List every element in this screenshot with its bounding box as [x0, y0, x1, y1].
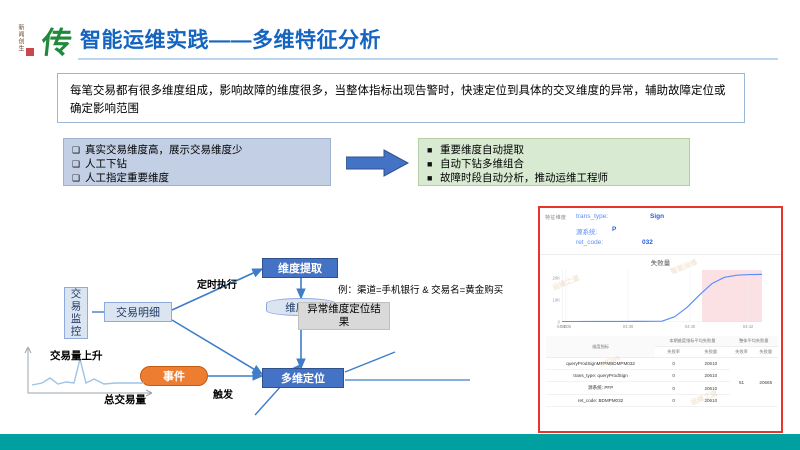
- square-filled-icon: ■: [427, 143, 440, 157]
- label-volume-rising: 交易量上升: [50, 348, 103, 363]
- title-divider: [78, 58, 778, 60]
- table-row: queryProdSignMFPMBDMPM032 0 20610 51 206…: [546, 358, 778, 370]
- cell-dimension: ret_code: BDMPM032: [546, 395, 655, 407]
- y-tick-label: 20K: [553, 276, 560, 281]
- square-filled-icon: ■: [427, 171, 440, 185]
- list-item: ❑ 人工下钻: [72, 157, 322, 171]
- table-body: queryProdSignMFPMBDMPM032 0 20610 51 206…: [546, 358, 778, 407]
- cell-count: 20610: [692, 382, 729, 395]
- list-item: ■ 重要维度自动提取: [427, 143, 681, 157]
- field-key: ret_code:: [576, 239, 603, 246]
- brand-logo: 新闻创生 传: [12, 16, 74, 60]
- col-dimension: 维度指标: [546, 336, 655, 358]
- description-box: 每笔交易都有很多维度组成，影响故障的维度很多，当整体指标出现告警时，快速定位到具…: [57, 73, 745, 123]
- field-value: P: [612, 226, 616, 233]
- list-item-label: 人工指定重要维度: [85, 171, 169, 185]
- field-value: Sign: [650, 213, 664, 220]
- cell-rate: 0: [655, 382, 692, 395]
- list-item-label: 自动下钻多维组合: [440, 157, 524, 171]
- panel-header: 特征维度 trans_type: Sign 源系统: P ret_code: 0…: [540, 208, 781, 255]
- table-group-header-row: 维度指标 本期维度指标平均失败量 整体平均失败量: [546, 336, 778, 347]
- footer-bar: [0, 434, 800, 450]
- list-item: ■ 故障时段自动分析，推动运维工程师: [427, 171, 681, 185]
- cell-rate: 0: [655, 370, 692, 382]
- transition-arrow-icon: [346, 148, 410, 178]
- list-item-label: 人工下钻: [85, 157, 127, 171]
- field-key: trans_type:: [576, 213, 608, 220]
- logo-red-stamp-icon: [26, 48, 34, 56]
- col-fail-count-1: 失败量: [692, 347, 729, 358]
- node-transaction-monitor[interactable]: 交易监控: [64, 287, 88, 339]
- page-title: 智能运维实践——多维特征分析: [80, 24, 381, 54]
- y-tick-label: 10K: [553, 298, 560, 303]
- col-fail-rate-1: 失败率: [655, 347, 692, 358]
- label-example: 例：渠道=手机银行 & 交易名=黄金购买: [338, 282, 503, 296]
- col-overall-avg: 整体平均失败量: [730, 336, 778, 347]
- node-anomaly-result[interactable]: 异常维度定位结果: [298, 302, 390, 330]
- square-outline-icon: ❑: [72, 143, 85, 157]
- chart-title: 失败量: [540, 257, 781, 267]
- square-outline-icon: ❑: [72, 157, 85, 171]
- node-transaction-detail[interactable]: 交易明细: [104, 302, 172, 322]
- current-state-box: ❑ 真实交易维度高，展示交易维度少 ❑ 人工下钻 ❑ 人工指定重要维度: [63, 138, 331, 186]
- col-period-avg: 本期维度指标平均失败量: [655, 336, 729, 347]
- x-tick-label: 04:40: [685, 324, 695, 329]
- dimension-metrics-table: 维度指标 本期维度指标平均失败量 整体平均失败量 失败率 失败量 失败率 失败量…: [546, 336, 778, 407]
- node-multidim-locate[interactable]: 多维定位: [262, 368, 344, 388]
- col-fail-rate-2: 失败率: [730, 347, 754, 358]
- cell-overall-rate: 51: [730, 358, 754, 407]
- square-outline-icon: ❑: [72, 171, 85, 185]
- analysis-result-panel: 特征维度 trans_type: Sign 源系统: P ret_code: 0…: [538, 206, 783, 433]
- field-key: 源系统:: [576, 226, 597, 236]
- col-fail-count-2: 失败量: [754, 347, 778, 358]
- label-total-volume: 总交易量: [104, 392, 146, 407]
- list-item: ❑ 人工指定重要维度: [72, 171, 322, 185]
- panel-tag-label: 特征维度: [545, 214, 566, 221]
- x-tick-label: 04:38: [623, 324, 633, 329]
- node-dimension-extract[interactable]: 维度提取: [262, 258, 338, 278]
- list-item-label: 真实交易维度高，展示交易维度少: [85, 143, 243, 157]
- label-scheduled-execution: 定时执行: [197, 276, 237, 291]
- list-item-label: 重要维度自动提取: [440, 143, 524, 157]
- list-item: ■ 自动下钻多维组合: [427, 157, 681, 171]
- table-header: 维度指标 本期维度指标平均失败量 整体平均失败量 失败率 失败量 失败率 失败量: [546, 336, 778, 358]
- field-value: 032: [642, 239, 653, 246]
- cell-rate: 0: [655, 395, 692, 407]
- chart-plot-area: [562, 270, 762, 322]
- x-tick-label: 04:42: [743, 324, 753, 329]
- list-item: ❑ 真实交易维度高，展示交易维度少: [72, 143, 322, 157]
- cell-overall-count: 20665: [754, 358, 778, 407]
- cell-count: 20610: [692, 358, 729, 370]
- logo-brush-glyph: 传: [40, 18, 75, 62]
- square-filled-icon: ■: [427, 157, 440, 171]
- logo-seal-text: 新闻创生: [16, 24, 23, 52]
- slide-root: 新闻创生 传 智能运维实践——多维特征分析 每笔交易都有很多维度组成，影响故障的…: [0, 0, 800, 450]
- label-trigger: 触发: [213, 386, 233, 401]
- cell-dimension: 源系统: PFP: [546, 382, 655, 395]
- target-state-box: ■ 重要维度自动提取 ■ 自动下钻多维组合 ■ 故障时段自动分析，推动运维工程师: [418, 138, 690, 186]
- list-item-label: 故障时段自动分析，推动运维工程师: [440, 171, 608, 185]
- cell-dimension: queryProdSignMFPMBDMPM032: [546, 358, 655, 370]
- cell-rate: 0: [655, 358, 692, 370]
- cell-dimension: trans_type: queryProdSign: [546, 370, 655, 382]
- cell-count: 20610: [692, 395, 729, 407]
- failure-count-chart: 0 10K 20K 04:36 04:38 04:40 04:40 04:42: [562, 270, 762, 322]
- x-tick-label: 04:40: [557, 324, 567, 329]
- cell-count: 20610: [692, 370, 729, 382]
